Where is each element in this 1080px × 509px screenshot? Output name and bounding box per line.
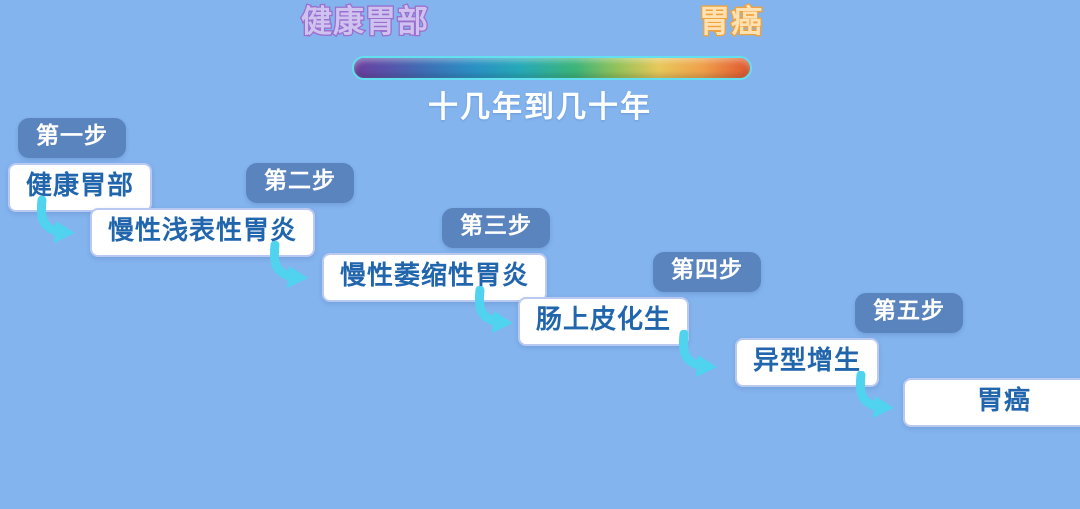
step-badge-3: 第三步 [442,208,550,248]
step-badge-5: 第五步 [855,293,963,333]
stage-box-4: 肠上皮化生 [518,297,689,346]
stage-box-6: 胃癌 [903,378,1080,427]
step-badge-4: 第四步 [653,252,761,292]
stage-box-1: 健康胃部 [8,163,152,212]
gastric-cancer-title: 胃癌 [699,7,763,38]
stage-box-3: 慢性萎缩性胃炎 [322,253,547,302]
slide-canvas: 健康胃部 胃癌 十几年到几十年 第一步 健康胃部 第二步 慢性浅表性胃炎 第三步… [0,0,1080,509]
step-badge-1: 第一步 [18,118,126,158]
gradient-fill [352,56,752,80]
stage-box-2: 慢性浅表性胃炎 [90,208,315,257]
stage-box-5: 异型增生 [735,338,879,387]
step-badge-2: 第二步 [246,163,354,203]
progression-gradient-bar [352,56,752,80]
healthy-stomach-title: 健康胃部 [301,7,429,38]
duration-label: 十几年到几十年 [0,90,1080,126]
